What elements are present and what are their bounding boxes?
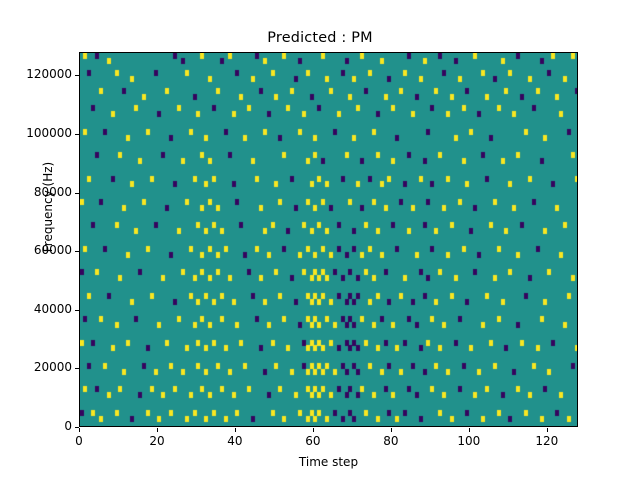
- heatmap-plot-area[interactable]: [79, 52, 578, 427]
- x-tick-mark: [235, 428, 236, 432]
- y-tick-mark: [75, 310, 79, 311]
- y-tick-mark: [75, 134, 79, 135]
- x-axis-label: Time step: [79, 455, 578, 469]
- y-tick-label: 80000: [0, 185, 72, 199]
- y-tick-label: 120000: [0, 67, 72, 81]
- page-title: Predicted : PM: [0, 30, 640, 46]
- y-tick-label: 60000: [0, 243, 72, 257]
- x-tick-mark: [391, 428, 392, 432]
- y-tick-label: 20000: [0, 360, 72, 374]
- y-tick-label: 100000: [0, 126, 72, 140]
- x-tick-mark: [469, 428, 470, 432]
- x-tick-mark: [157, 428, 158, 432]
- x-tick-label: 80: [361, 434, 421, 448]
- y-tick-mark: [75, 193, 79, 194]
- x-tick-mark: [79, 428, 80, 432]
- matplotlib-figure: Predicted : PM Frequency (Hz) Time step …: [0, 0, 640, 480]
- x-tick-label: 40: [205, 434, 265, 448]
- y-axis-label: Frequency (Hz): [41, 127, 55, 287]
- x-tick-label: 0: [49, 434, 109, 448]
- y-tick-label: 0: [0, 419, 72, 433]
- x-tick-label: 100: [439, 434, 499, 448]
- x-tick-mark: [547, 428, 548, 432]
- y-tick-mark: [75, 427, 79, 428]
- x-tick-mark: [313, 428, 314, 432]
- y-tick-mark: [75, 251, 79, 252]
- y-tick-label: 40000: [0, 302, 72, 316]
- y-tick-mark: [75, 368, 79, 369]
- x-tick-label: 120: [517, 434, 577, 448]
- x-tick-label: 20: [127, 434, 187, 448]
- heatmap-canvas: [80, 53, 578, 427]
- x-tick-label: 60: [283, 434, 343, 448]
- y-tick-mark: [75, 75, 79, 76]
